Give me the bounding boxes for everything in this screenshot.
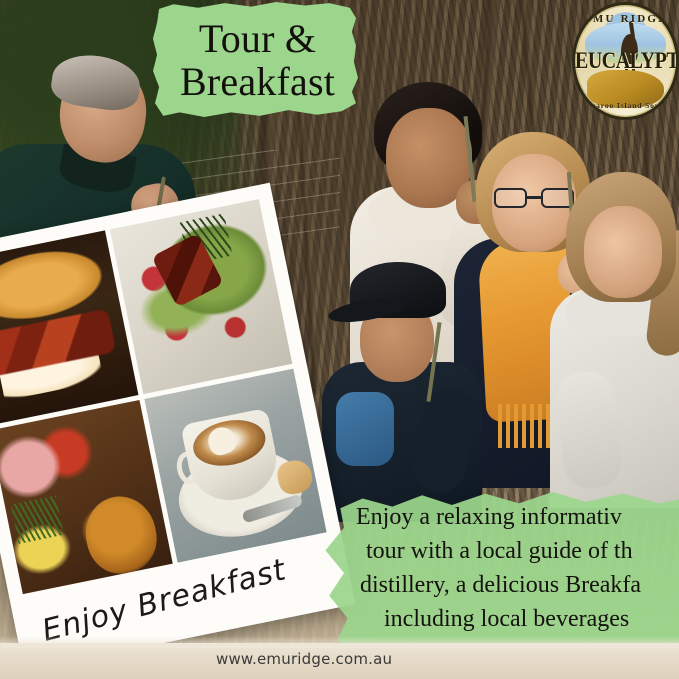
- website-url[interactable]: www.emuridge.com.au: [216, 650, 392, 668]
- person-girl-grey-hoodie: [556, 172, 679, 502]
- footer-bar: www.emuridge.com.au: [0, 643, 679, 679]
- person-child-black-cap: [322, 262, 482, 512]
- page-title: Tour & Breakfast: [150, 8, 365, 113]
- photo-avocado-toast-bacon: [109, 199, 292, 394]
- promotional-poster: Tour & Breakfast EMU RIDGE EUCALYPTUS Ka…: [0, 0, 679, 679]
- photo-charcuterie-beans-eggs: [0, 400, 172, 595]
- logo-center-text: EUCALYPTUS: [575, 48, 676, 75]
- logo-arc-top-text: EMU RIDGE: [575, 13, 676, 25]
- promo-line-2: tour with a local guide of th: [366, 534, 679, 568]
- logo-arc-bottom-text: Kangaroo Island South Australia: [575, 101, 676, 110]
- title-line-2: Breakfast: [180, 61, 335, 103]
- promo-line-1: Enjoy a relaxing informativ: [356, 500, 679, 534]
- promo-line-3: distillery, a delicious Breakfa: [360, 568, 679, 602]
- promo-line-4: including local beverages: [384, 602, 679, 636]
- food-photo-grid: [0, 199, 327, 594]
- title-line-1: Tour &: [199, 18, 316, 60]
- logo-disc: EMU RIDGE EUCALYPTUS Kangaroo Island Sou…: [572, 2, 679, 120]
- promo-description: Enjoy a relaxing informativ tour with a …: [352, 500, 679, 636]
- emu-ridge-eucalyptus-logo: EMU RIDGE EUCALYPTUS Kangaroo Island Sou…: [572, 2, 679, 130]
